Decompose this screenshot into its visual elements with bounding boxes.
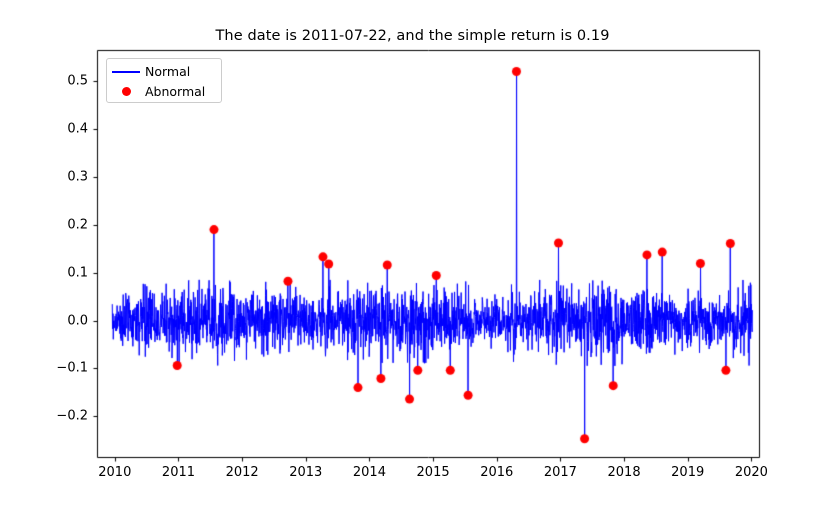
legend-entry-abnormal: Abnormal [107, 81, 221, 102]
legend-label-normal: Normal [145, 64, 190, 79]
x-tick-label: 2014 [353, 465, 386, 480]
y-tick-label: −0.1 [40, 361, 88, 376]
legend-dot-icon [107, 87, 145, 96]
y-tick-label: −0.2 [40, 409, 88, 424]
chart-figure: The date is 2011-07-22, and the simple r… [0, 0, 825, 510]
x-tick-label: 2012 [226, 465, 259, 480]
x-tick-label: 2011 [162, 465, 195, 480]
chart-legend: Normal Abnormal [106, 58, 222, 103]
x-tick-label: 2016 [480, 465, 513, 480]
legend-entry-normal: Normal [107, 61, 221, 82]
y-tick-label: 0.1 [40, 265, 88, 280]
chart-title: The date is 2011-07-22, and the simple r… [0, 28, 825, 44]
y-tick-label: 0.5 [40, 74, 88, 89]
x-tick-label: 2019 [671, 465, 704, 480]
legend-label-abnormal: Abnormal [145, 84, 205, 99]
y-tick-label: 0.2 [40, 217, 88, 232]
y-tick-label: 0.4 [40, 122, 88, 137]
legend-line-icon [107, 71, 145, 73]
x-tick-label: 2017 [544, 465, 577, 480]
x-tick-label: 2013 [289, 465, 322, 480]
x-tick-label: 2010 [98, 465, 131, 480]
x-tick-label: 2015 [417, 465, 450, 480]
y-tick-label: 0.3 [40, 169, 88, 184]
y-tick-label: 0.0 [40, 313, 88, 328]
x-tick-label: 2018 [608, 465, 641, 480]
x-tick-label: 2020 [735, 465, 768, 480]
